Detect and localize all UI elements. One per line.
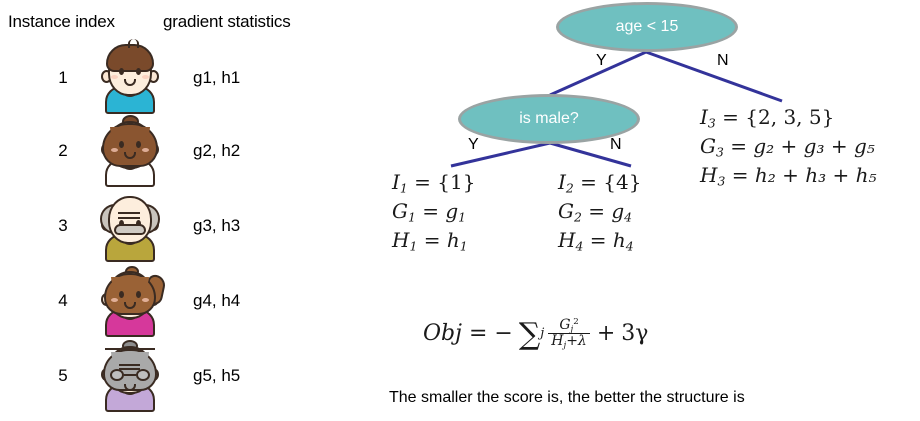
grandmother-avatar-icon: [96, 340, 164, 412]
objective-minus: −: [494, 321, 512, 346]
objective-fraction: Gj2 Hj+λ: [548, 318, 590, 349]
leaf2-g-sub: 2: [574, 209, 582, 224]
objective-numerator: Gj2: [556, 318, 581, 333]
leaf3-g-name: G: [700, 134, 716, 158]
table-row: 3 g3, h3: [0, 188, 370, 263]
edge-label-is-male-yes: Y: [468, 136, 479, 154]
leaf2-h-sub: 4: [575, 238, 583, 253]
tree-node-root[interactable]: age < 15: [556, 2, 738, 52]
column-header-gradient-statistics: gradient statistics: [163, 12, 291, 32]
leaf2-g-value-sub: 4: [624, 209, 632, 224]
table-row: 4 g4, h4: [0, 263, 370, 338]
edge-label-root-yes: Y: [596, 52, 607, 70]
objective-tail: 3γ: [621, 321, 648, 346]
leaf1-set-line: I1 = {1}: [392, 168, 475, 197]
leaf2-h-line: H4 = h4: [558, 226, 641, 255]
leaf3-h-line: H3 = h₂ + h₃ + h₅: [700, 161, 876, 190]
table-row: 2 g2, h2: [0, 113, 370, 188]
leaf3-set-sub: 3: [708, 115, 716, 130]
leaf2-set-name: I: [558, 170, 566, 194]
slide-canvas: Instance index gradient statistics 1 g1,…: [0, 0, 920, 421]
leaf1-h-sub: 1: [409, 238, 417, 253]
leaf1-h-name: H: [392, 228, 409, 252]
grandfather-avatar-icon: [96, 190, 164, 262]
gradient-statistics-value: g4, h4: [193, 291, 240, 311]
leaf2-h-value-sub: 4: [626, 238, 634, 253]
leaf2-set-sub: 2: [566, 180, 574, 195]
boy-avatar-icon: [96, 42, 164, 114]
leaf3-h-terms: h₂ + h₃ + h₅: [755, 163, 877, 187]
gradient-statistics-value: g3, h3: [193, 216, 240, 236]
leaf2-g-value: g: [611, 199, 624, 223]
leaf1-g-value: g: [445, 199, 458, 223]
objective-numerator-sup: 2: [573, 317, 579, 327]
instance-index-value: 1: [52, 68, 74, 88]
leaf3-g-line: G3 = g₂ + g₃ + g₅: [700, 132, 876, 161]
edge-label-root-no: N: [717, 52, 729, 70]
leaf3-g-terms: g₂ + g₃ + g₅: [753, 134, 874, 158]
leaf1-set-value: {1}: [437, 170, 475, 194]
leaf2-g-name: G: [558, 199, 574, 223]
objective-equals: =: [469, 321, 487, 346]
tree-node-is-male-label: is male?: [519, 110, 579, 128]
leaf-stats-block-2: I2 = {4} G2 = g4 H4 = h4: [558, 168, 641, 255]
leaf1-g-line: G1 = g1: [392, 197, 475, 226]
leaf2-set-value: {4}: [603, 170, 641, 194]
leaf1-g-sub: 1: [408, 209, 416, 224]
instance-table: Instance index gradient statistics 1 g1,…: [0, 0, 370, 421]
girl-avatar-icon: [96, 115, 164, 187]
objective-lhs: Obj: [423, 321, 462, 346]
leaf-stats-block-3: I3 = {2, 3, 5} G3 = g₂ + g₃ + g₅ H3 = h₂…: [700, 103, 876, 190]
objective-denominator-base: H: [551, 333, 563, 349]
leaf3-h-sub: 3: [717, 173, 725, 188]
objective-denominator: Hj+λ: [548, 333, 590, 349]
leaf1-g-name: G: [392, 199, 408, 223]
objective-denominator-tail: +λ: [566, 333, 587, 349]
instance-index-value: 2: [52, 141, 74, 161]
leaf3-h-name: H: [700, 163, 717, 187]
instance-index-value: 4: [52, 291, 74, 311]
column-header-instance-index: Instance index: [8, 12, 115, 32]
summation-icon: ∑: [519, 320, 540, 350]
leaf2-g-line: G2 = g4: [558, 197, 641, 226]
leaf-stats-block-1: I1 = {1} G1 = g1 H1 = h1: [392, 168, 475, 255]
leaf1-g-value-sub: 1: [458, 209, 466, 224]
leaf1-h-value-sub: 1: [460, 238, 468, 253]
gradient-statistics-value: g2, h2: [193, 141, 240, 161]
caption-text: The smaller the score is, the better the…: [389, 389, 745, 407]
leaf1-h-value: h: [447, 228, 460, 252]
instance-index-value: 3: [52, 216, 74, 236]
leaf2-h-name: H: [558, 228, 575, 252]
gradient-statistics-value: g1, h1: [193, 68, 240, 88]
edge-label-is-male-no: N: [610, 136, 622, 154]
tree-node-root-label: age < 15: [616, 18, 679, 36]
leaf3-set-line: I3 = {2, 3, 5}: [700, 103, 876, 132]
leaf2-h-value: h: [613, 228, 626, 252]
leaf3-set-value: {2, 3, 5}: [745, 105, 834, 129]
leaf2-set-line: I2 = {4}: [558, 168, 641, 197]
gradient-statistics-value: g5, h5: [193, 366, 240, 386]
leaf3-g-sub: 3: [716, 144, 724, 159]
instance-index-value: 5: [52, 366, 74, 386]
objective-formula: Obj = − ∑j Gj2 Hj+λ + 3γ: [423, 318, 648, 349]
leaf1-h-line: H1 = h1: [392, 226, 475, 255]
objective-numerator-base: G: [559, 317, 570, 333]
table-row: 1 g1, h1: [0, 40, 370, 115]
objective-plus: +: [597, 321, 615, 346]
young-woman-avatar-icon: [96, 265, 164, 337]
leaf1-set-sub: 1: [400, 180, 408, 195]
leaf1-set-name: I: [392, 170, 400, 194]
table-row: 5 g5, h5: [0, 338, 370, 413]
leaf3-set-name: I: [700, 105, 708, 129]
